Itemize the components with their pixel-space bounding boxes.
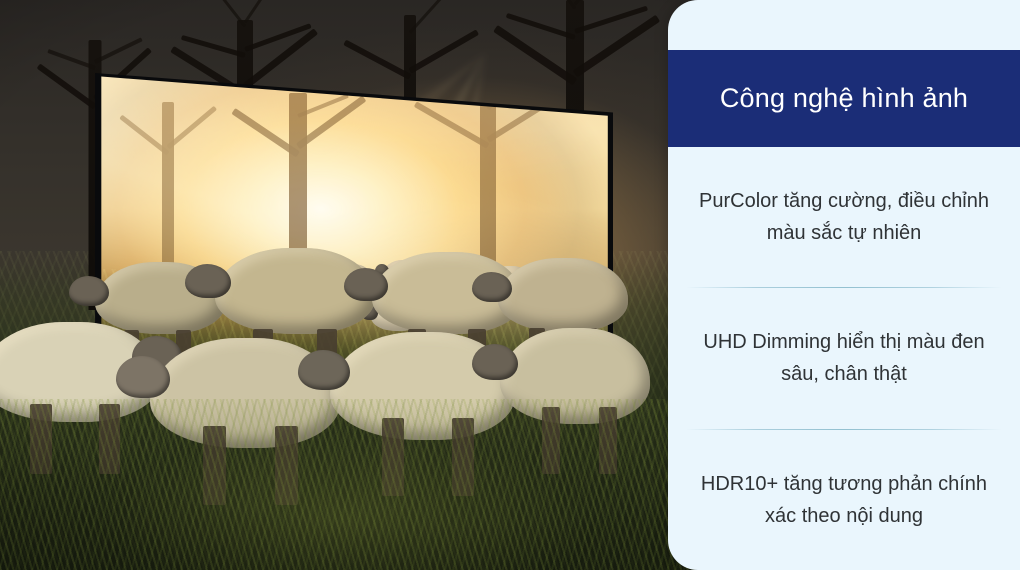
panel-title-banner: Công nghệ hình ảnh [668,50,1020,147]
page-title: Công nghệ hình ảnh [720,83,968,114]
promo-banner: Công nghệ hình ảnh PurColor tăng cường, … [0,0,1020,570]
tv-screen-overlay [93,60,613,420]
feature-text: HDR10+ tăng tương phản chính xác theo nộ… [699,468,989,532]
feature-panel: Công nghệ hình ảnh PurColor tăng cường, … [668,0,1020,570]
list-item: UHD Dimming hiển thị màu đen sâu, chân t… [668,288,1020,428]
tv-screen-content [93,60,613,420]
feature-list: PurColor tăng cường, điều chỉnh màu sắc … [668,147,1020,570]
list-item: HDR10+ tăng tương phản chính xác theo nộ… [668,430,1020,570]
feature-text: PurColor tăng cường, điều chỉnh màu sắc … [699,185,989,249]
list-item: PurColor tăng cường, điều chỉnh màu sắc … [668,147,1020,287]
feature-text: UHD Dimming hiển thị màu đen sâu, chân t… [699,326,989,390]
